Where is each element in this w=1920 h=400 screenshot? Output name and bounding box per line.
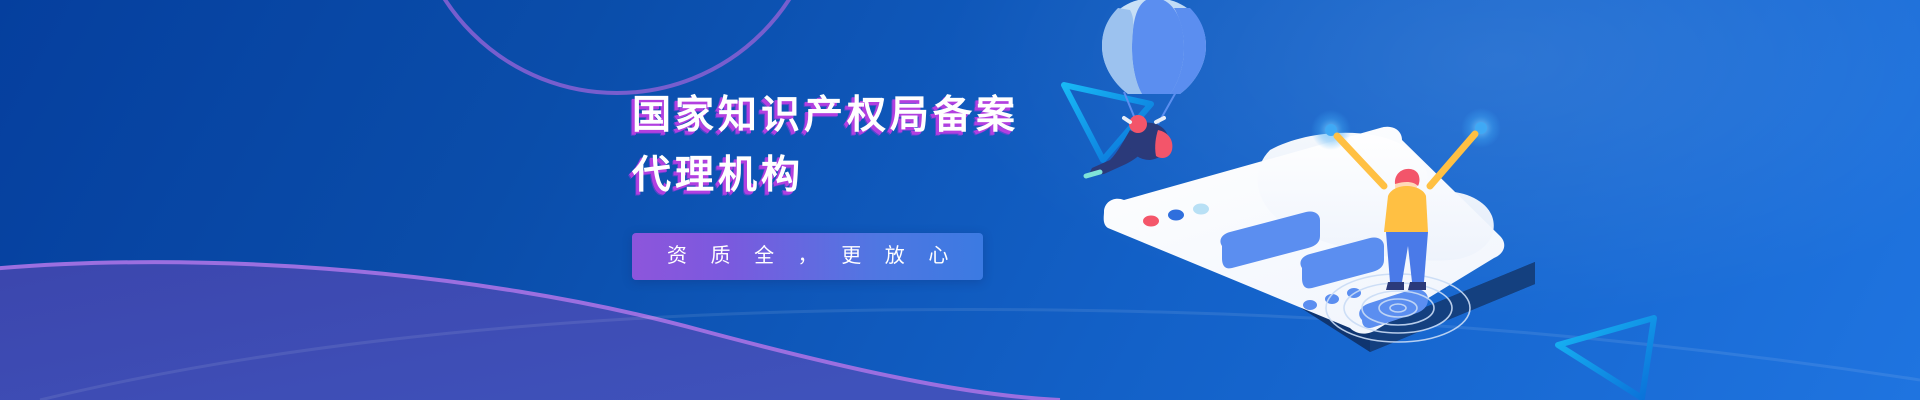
isometric-tablet [1104,127,1535,352]
parachute-panel-center [1132,0,1184,94]
purple-wave-shape [0,262,1060,400]
purple-circle-outline-icon [412,0,822,93]
window-dot-blue-icon [1168,210,1184,221]
window-dot-cyan-icon [1193,204,1209,215]
promo-banner: 国家知识产权局备案 代理机构 资 质 全 ， 更 放 心 [0,0,1920,400]
parachutist-shoes [1086,172,1100,176]
isometric-illustration [1080,0,1580,400]
tablet-dot-1 [1303,300,1317,310]
person-shirt [1384,186,1428,232]
purple-wave-stroke [0,262,1060,400]
background-curve-line [40,309,1920,400]
parachutist-figure [1086,0,1206,176]
parachutist-scarf [1155,130,1172,158]
tagline-badge: 资 质 全 ， 更 放 心 [632,233,983,280]
window-dot-red-icon [1143,216,1159,227]
parachutist-head [1129,115,1147,133]
